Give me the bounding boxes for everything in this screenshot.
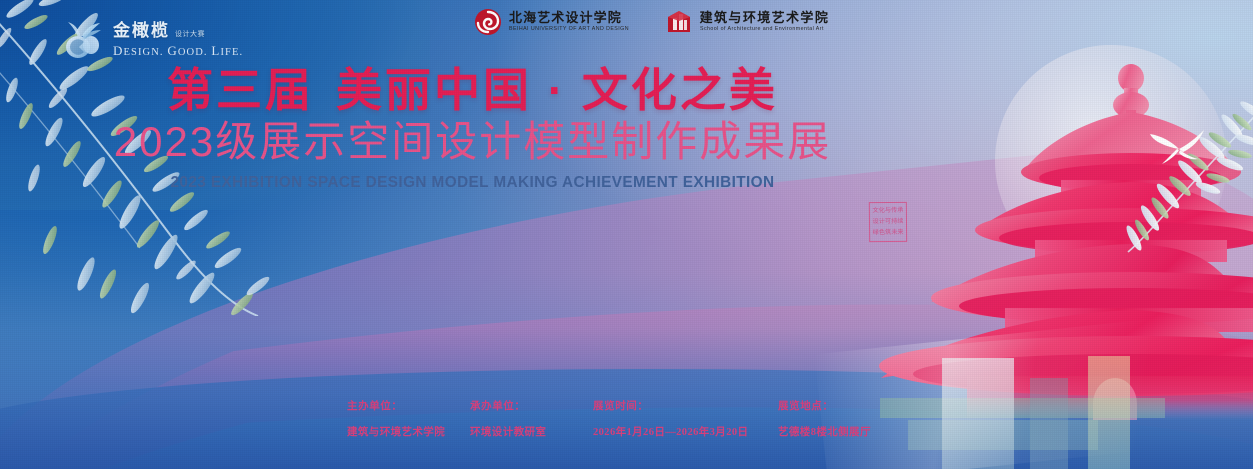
- footer-label-date: 展览时间：: [593, 398, 748, 413]
- title-line-1: 第三届美丽中国 · 文化之美: [0, 66, 945, 114]
- brand-name-cn-text: 金橄榄: [113, 22, 170, 39]
- willow-branch-right: [1120, 96, 1253, 286]
- spiral-emblem-icon: [474, 8, 502, 36]
- title-line-2: 2023级展示空间设计模型制作成果展: [0, 119, 945, 165]
- footer-value-organizer: 建筑与环境艺术学院: [347, 424, 445, 439]
- org-text: 北海艺术设计学院 BEIHAI UNIVERSITY OF ART AND DE…: [509, 11, 627, 33]
- org-school-architecture: 建筑与环境艺术学院 School of Architecture and Env…: [665, 8, 830, 36]
- org-name-cn: 北海艺术设计学院: [509, 11, 627, 25]
- seal-line-3: 绿色筑未来: [871, 228, 905, 240]
- brand-name-cn: 金橄榄 设计大赛: [113, 22, 243, 39]
- tagline-life: IFE.: [220, 47, 243, 58]
- footer-column-organizer: 主办单位： 建筑与环境艺术学院: [347, 398, 445, 439]
- poster-title-block: 第三届美丽中国 · 文化之美 2023级展示空间设计模型制作成果展 2023 E…: [0, 66, 945, 192]
- brand-tagline: DESIGN. GOOD. LIFE.: [113, 44, 243, 59]
- title-line-1a: 第三届: [167, 64, 314, 116]
- footer-value-date: 2026年1月26日—2026年3月20日: [593, 424, 748, 439]
- organization-logos: 北海艺术设计学院 BEIHAI UNIVERSITY OF ART AND DE…: [474, 8, 829, 36]
- org-name-en: BEIHAI UNIVERSITY OF ART AND DESIGN: [509, 27, 629, 32]
- footer-column-undertaker: 承办单位： 环境设计教研室: [470, 398, 546, 439]
- tagline-d: D: [113, 43, 124, 58]
- brand-text: 金橄榄 设计大赛 DESIGN. GOOD. LIFE.: [113, 22, 243, 59]
- tagline-g: G: [167, 43, 178, 58]
- architecture-emblem-icon: [665, 8, 693, 36]
- brand-name-cn-sub: 设计大赛: [175, 31, 205, 38]
- org-text: 建筑与环境艺术学院 School of Architecture and Env…: [700, 11, 830, 33]
- org-name-cn: 建筑与环境艺术学院: [700, 11, 830, 25]
- footer-value-undertaker: 环境设计教研室: [470, 424, 546, 439]
- footer-column-venue: 展览地点： 艺德楼8楼北侧展厅: [778, 398, 871, 439]
- seal-line-2: 设计可持续: [871, 216, 905, 228]
- footer-value-venue: 艺德楼8楼北侧展厅: [778, 424, 871, 439]
- title-line-1b: 美丽中国 · 文化之美: [336, 64, 778, 116]
- red-seal-stamp: 文化与传承 设计可持续 绿色筑未来: [869, 202, 907, 242]
- footer-column-date: 展览时间： 2026年1月26日—2026年3月20日: [593, 398, 748, 439]
- org-beihai-university: 北海艺术设计学院 BEIHAI UNIVERSITY OF ART AND DE…: [474, 8, 627, 36]
- tagline-design: ESIGN.: [124, 47, 164, 58]
- footer-info-bar: 主办单位： 建筑与环境艺术学院 承办单位： 环境设计教研室 展览时间： 2026…: [0, 398, 1253, 458]
- seal-line-1: 文化与传承: [871, 205, 905, 217]
- footer-label-undertaker: 承办单位：: [470, 398, 546, 413]
- swallow-bird: [1146, 126, 1208, 168]
- footer-label-venue: 展览地点：: [778, 398, 871, 413]
- org-name-en: School of Architecture and Environmental…: [700, 27, 832, 32]
- olive-branch-icon: [60, 18, 104, 62]
- exhibition-poster: 金橄榄 设计大赛 DESIGN. GOOD. LIFE. 北海艺术设计学院 BE…: [0, 0, 1253, 469]
- tagline-good: OOD.: [178, 47, 208, 58]
- brand-logo: 金橄榄 设计大赛 DESIGN. GOOD. LIFE.: [60, 18, 243, 62]
- title-line-3-english: 2023 EXHIBITION SPACE DESIGN MODEL MAKIN…: [5, 174, 941, 192]
- footer-label-organizer: 主办单位：: [347, 398, 445, 413]
